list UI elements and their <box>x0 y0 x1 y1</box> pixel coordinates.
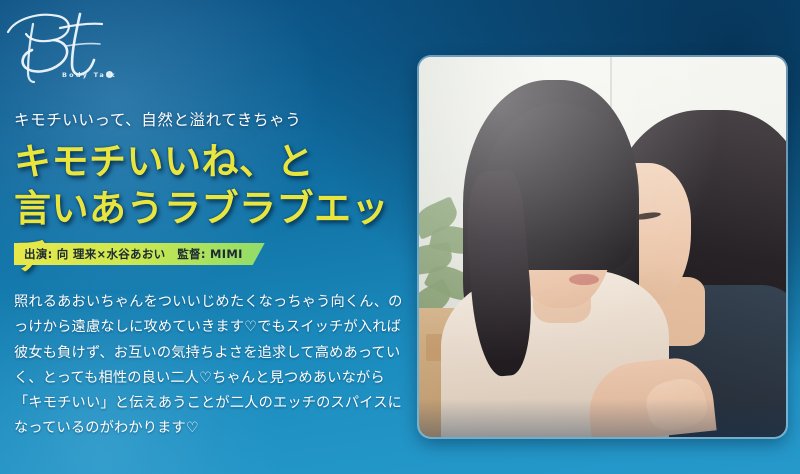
promo-banner: Body Talk キモチいいって、自然と溢れてきちゃう キモチいいね、と 言い… <box>0 0 800 474</box>
photo-woman-lips <box>569 274 598 285</box>
photo-content <box>419 57 786 437</box>
credits-bar: 出演: 向 理来×水谷あおい 監督: MIMI <box>14 243 265 265</box>
registered-mark-icon <box>106 71 113 78</box>
couple-kissing-photo[interactable] <box>419 57 786 437</box>
title-line-1: キモチいいね、と <box>14 138 414 185</box>
title-line-2: 言いあうラブラブエッチ <box>14 185 414 280</box>
bt-monogram-icon <box>6 6 136 92</box>
catchcopy: キモチいいって、自然と溢れてきちゃう <box>14 108 301 130</box>
description-text: 照れるあおいちゃんをついいじめたくなっちゃう向くん、のっけから遠慮なしに攻めてい… <box>14 290 406 442</box>
brand-logo[interactable]: Body Talk <box>6 6 136 92</box>
credits-text: 出演: 向 理来×水谷あおい 監督: MIMI <box>24 246 243 262</box>
